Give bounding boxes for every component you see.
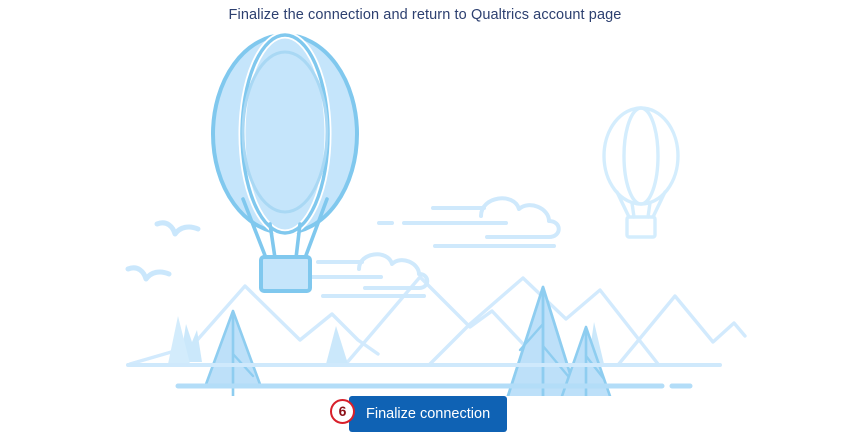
page-title: Finalize the connection and return to Qu…	[0, 6, 850, 24]
secondary-balloon-envelope	[604, 108, 678, 204]
cloud-right	[379, 198, 559, 246]
pine-trees	[168, 287, 611, 396]
secondary-balloon-rope-2	[632, 203, 634, 217]
illustration-svg	[0, 24, 850, 396]
cloud-right-shape	[481, 198, 559, 237]
finalize-connection-button[interactable]: Finalize connection	[349, 396, 507, 432]
cloud-left	[296, 254, 427, 296]
secondary-balloon	[604, 108, 678, 237]
step-number-badge: 6	[330, 399, 355, 424]
peak-accent-mid	[326, 326, 348, 364]
bird-lower	[128, 268, 169, 279]
bird-upper	[157, 223, 198, 234]
action-bar: Finalize connection	[0, 394, 850, 437]
birds	[128, 223, 198, 279]
main-balloon-envelope	[213, 35, 357, 233]
secondary-balloon-gore	[624, 108, 658, 204]
page-root: Finalize the connection and return to Qu…	[0, 0, 850, 437]
secondary-balloon-rope-1	[617, 192, 629, 217]
secondary-balloon-basket	[627, 217, 655, 237]
main-balloon-basket	[261, 257, 310, 291]
main-balloon	[213, 35, 357, 291]
secondary-balloon-rope-3	[648, 203, 650, 217]
hot-air-balloon-illustration	[0, 24, 850, 396]
secondary-balloon-rope-4	[653, 192, 665, 217]
